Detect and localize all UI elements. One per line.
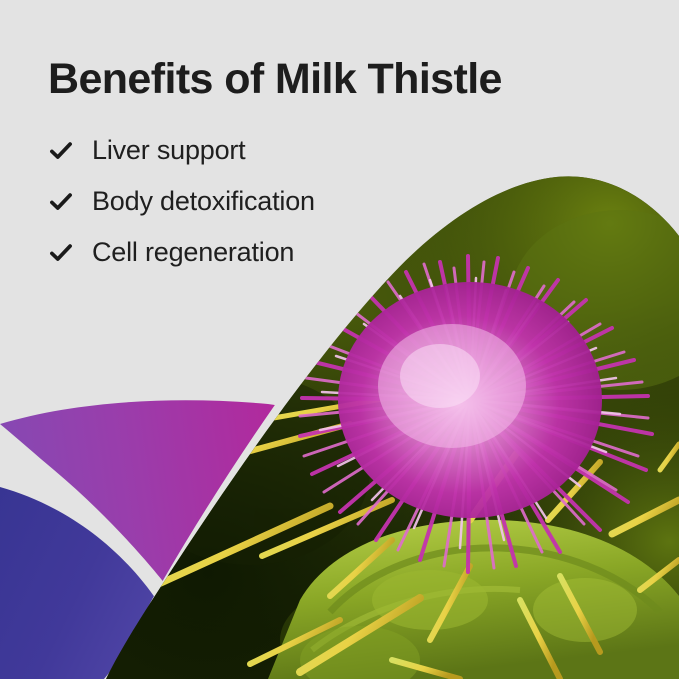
checkmark-icon	[48, 240, 74, 266]
benefits-text-block: Benefits of Milk Thistle Liver support B…	[48, 55, 588, 289]
checkmark-icon	[48, 189, 74, 215]
benefit-item-body-detoxification: Body detoxification	[48, 187, 588, 217]
page-title: Benefits of Milk Thistle	[48, 55, 588, 104]
thistle-flower-head	[300, 256, 652, 572]
benefit-item-liver-support: Liver support	[48, 136, 588, 166]
thistle-spines	[150, 396, 679, 679]
benefit-label: Liver support	[92, 136, 245, 166]
benefit-list: Liver support Body detoxification Cell r…	[48, 136, 588, 267]
benefit-label: Body detoxification	[92, 187, 315, 217]
product-benefits-card: Benefits of Milk Thistle Liver support B…	[0, 0, 679, 679]
thistle-bract-group	[268, 520, 679, 679]
indigo-wedge	[0, 487, 158, 679]
benefit-label: Cell regeneration	[92, 238, 294, 268]
benefit-item-cell-regeneration: Cell regeneration	[48, 238, 588, 268]
checkmark-icon	[48, 138, 74, 164]
magenta-wedge	[0, 400, 292, 598]
